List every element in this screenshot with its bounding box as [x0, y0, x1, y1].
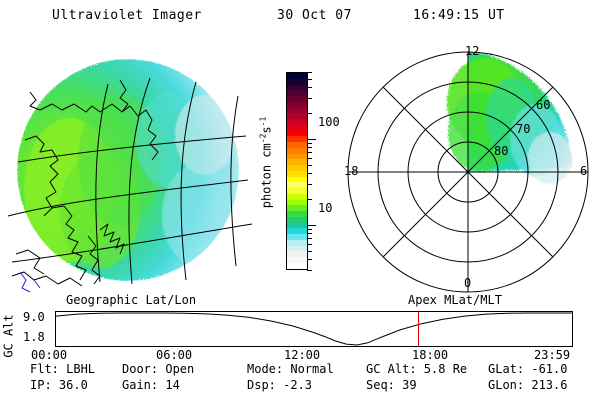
observation-date: 30 Oct 07 — [277, 8, 352, 23]
colorbar-minor-tick-6 — [307, 229, 312, 230]
time-cursor[interactable] — [418, 312, 419, 346]
colorbar-minor-tick-9 — [307, 184, 312, 185]
colorbar-minor-tick-14 — [307, 147, 312, 148]
observation-time: 16:49:15 UT — [413, 8, 505, 23]
colorbar-unit-exp2: -1 — [258, 117, 267, 127]
timeline-plot-box[interactable] — [55, 311, 573, 347]
colorbar-minor-tick-1 — [307, 259, 312, 260]
mlat-label-80: 80 — [494, 144, 508, 158]
timeline-tick-0600: 06:00 — [156, 348, 192, 362]
colorbar-minor-tick-11 — [307, 165, 312, 166]
mlt-label-6: 6 — [580, 164, 587, 178]
colorbar-panel: photon cm-2s-1 10010 — [262, 55, 342, 295]
timeline-tick-0000: 00:00 — [31, 348, 67, 362]
apex-aurora-patch — [447, 50, 572, 184]
colorbar-unit-exp1: -2 — [258, 134, 267, 144]
colorbar-axis-label: photon cm-2s-1 — [258, 117, 273, 209]
aurora-emission-disk — [17, 59, 239, 281]
instrument-title: Ultraviolet Imager — [52, 8, 202, 23]
colorbar-minor-tick-15 — [307, 143, 312, 144]
altitude-trace — [56, 313, 572, 345]
colorbar-ticks — [307, 72, 316, 270]
colorbar-unit-main: photon cm — [259, 143, 273, 208]
status-glat: GLat: -61.0 — [488, 362, 567, 376]
colorbar-minor-tick-20 — [307, 79, 312, 80]
colorbar-minor-tick-8 — [307, 199, 312, 200]
geographic-image-panel — [0, 40, 265, 295]
status-ip: IP: 36.0 — [30, 378, 88, 392]
hydrography-overlay — [20, 272, 40, 292]
colorbar-minor-tick-12 — [307, 158, 312, 159]
status-seq: Seq: 39 — [366, 378, 417, 392]
timeline-ymax-label: 9.0 — [23, 310, 45, 324]
timeline-tick-1200: 12:00 — [284, 348, 320, 362]
status-gain: Gain: 14 — [122, 378, 180, 392]
status-gc-alt: GC Alt: 5.8 Re — [366, 362, 467, 376]
status-glon: GLon: 213.6 — [488, 378, 567, 392]
colorbar-minor-tick-19 — [307, 87, 312, 88]
status-bar: Flt: LBHL IP: 36.0 Door: Open Gain: 14 M… — [0, 362, 600, 398]
colorbar-major-tick-100 — [307, 139, 316, 140]
colorbar-minor-tick-21 — [307, 72, 312, 73]
colorbar-minor-tick-18 — [307, 98, 312, 99]
gc-altitude-curve — [56, 312, 572, 346]
timeline-tick-1800: 18:00 — [412, 348, 448, 362]
colorbar-unit-mid: s — [259, 126, 273, 133]
status-dsp: Dsp: -2.3 — [247, 378, 312, 392]
colorbar-major-tick-10 — [307, 225, 316, 226]
mlt-label-18: 18 — [344, 164, 358, 178]
timeline-ymin-label: 1.8 — [23, 330, 45, 344]
colorbar-minor-tick-17 — [307, 113, 312, 114]
colorbar-tick-label-10: 10 — [318, 201, 332, 215]
colorbar-gradient — [286, 72, 308, 270]
colorbar-minor-tick-5 — [307, 233, 312, 234]
status-filter: Flt: LBHL — [30, 362, 95, 376]
header-bar: Ultraviolet Imager 30 Oct 07 16:49:15 UT — [0, 8, 600, 30]
apex-polar-panel: 12 6 0 18 60 70 80 — [340, 40, 600, 298]
status-door: Door: Open — [122, 362, 194, 376]
mlat-label-60: 60 — [536, 98, 550, 112]
orbit-timeline-panel: GC Alt 9.0 1.8 00:00 06:00 12:00 18:00 2… — [0, 305, 600, 355]
colorbar-minor-tick-3 — [307, 244, 312, 245]
status-mode: Mode: Normal — [247, 362, 334, 376]
mlt-label-0: 0 — [464, 276, 471, 290]
colorbar-minor-tick-0 — [307, 270, 312, 271]
mlt-label-12: 12 — [465, 44, 479, 58]
mlat-label-70: 70 — [516, 122, 530, 136]
timeline-yaxis-title: GC Alt — [2, 314, 16, 357]
colorbar-minor-tick-2 — [307, 251, 312, 252]
colorbar-minor-tick-10 — [307, 173, 312, 174]
colorbar-minor-tick-13 — [307, 152, 312, 153]
colorbar-band-33 — [287, 263, 307, 269]
apex-polar-plot — [340, 40, 600, 298]
mlt-spokes — [348, 52, 588, 292]
colorbar-tick-label-100: 100 — [318, 115, 340, 129]
colorbar-minor-tick-4 — [307, 238, 312, 239]
timeline-tick-2359: 23:59 — [534, 348, 570, 362]
geographic-aurora-image — [0, 40, 265, 295]
